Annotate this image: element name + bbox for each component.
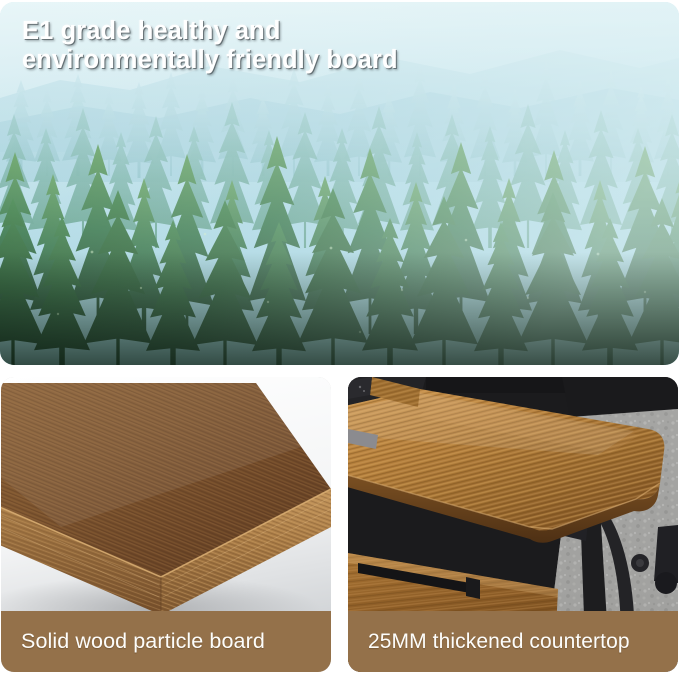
hero-heading-line-1: E1 grade healthy and bbox=[22, 17, 398, 46]
hero-heading-line-2: environmentally friendly board bbox=[22, 46, 398, 75]
caption-bar-right: 25MM thickened countertop bbox=[348, 611, 678, 672]
product-feature-image: E1 grade healthy and environmentally fri… bbox=[0, 0, 679, 674]
caption-bar-left: Solid wood particle board bbox=[1, 611, 331, 672]
feature-panel-25mm-thickened-countertop: 25MM thickened countertop bbox=[348, 377, 678, 672]
hero-forest-panel: E1 grade healthy and environmentally fri… bbox=[0, 2, 679, 365]
feature-panel-solid-wood-particle-board: Solid wood particle board bbox=[1, 377, 331, 672]
caption-label-left: Solid wood particle board bbox=[21, 629, 265, 654]
caption-label-right: 25MM thickened countertop bbox=[368, 630, 630, 654]
hero-heading: E1 grade healthy and environmentally fri… bbox=[22, 17, 398, 75]
